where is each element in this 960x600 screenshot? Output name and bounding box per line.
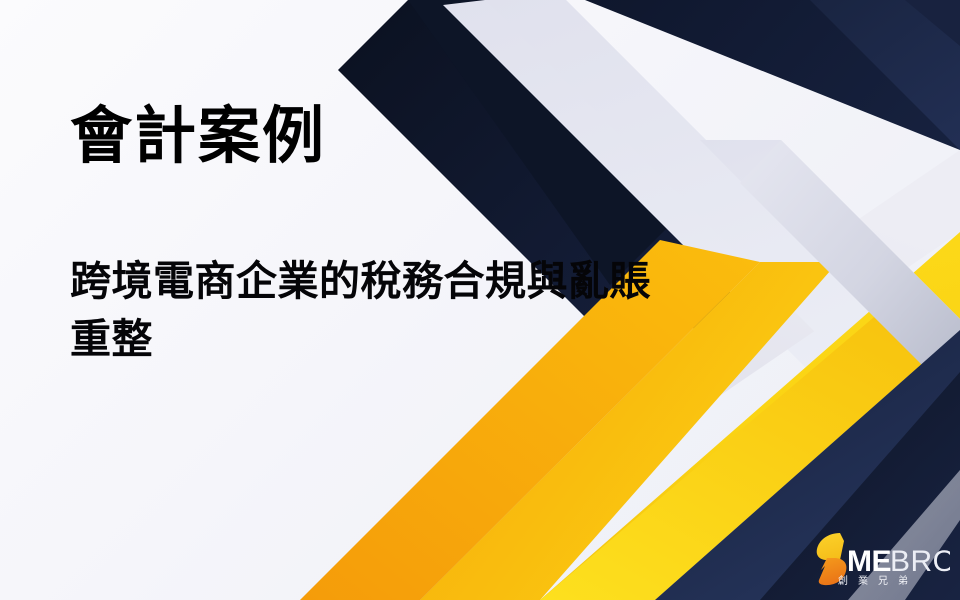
logo-tagline: 創業兄弟 [838, 574, 918, 587]
presentation-slide: 會計案例 跨境電商企業的稅務合規與亂賬重整 ME [0, 0, 960, 600]
smebro-logo: ME BRO 創業兄弟 [810, 530, 950, 588]
slide-subtitle: 跨境電商企業的稅務合規與亂賬重整 [70, 252, 670, 368]
logo-word-primary: ME [847, 545, 891, 578]
smebro-logo-svg: ME BRO 創業兄弟 [810, 530, 950, 588]
slide-title: 會計案例 [70, 104, 326, 171]
logo-word-secondary: BRO [890, 545, 950, 578]
slide-text-layer: 會計案例 跨境電商企業的稅務合規與亂賬重整 [0, 0, 960, 600]
